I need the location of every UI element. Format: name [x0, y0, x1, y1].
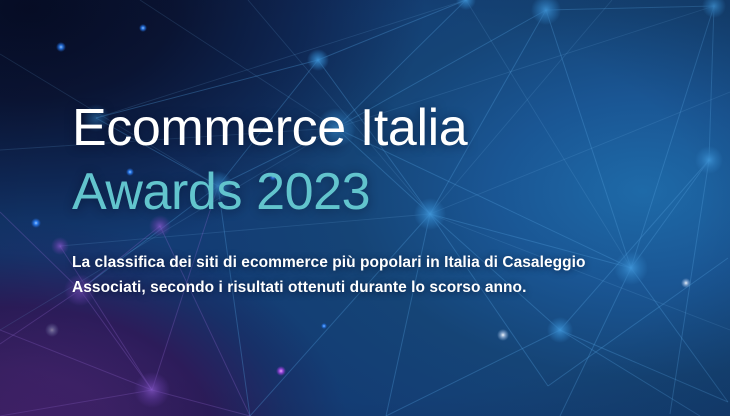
- page-title-line-1: Ecommerce Italia: [72, 96, 692, 160]
- hero-subtitle: La classifica dei siti di ecommerce più …: [72, 250, 657, 300]
- page-title-line-2: Awards 2023: [72, 160, 692, 224]
- hero-copy-block: Ecommerce Italia Awards 2023 La classifi…: [72, 96, 692, 300]
- hero-banner: Ecommerce Italia Awards 2023 La classifi…: [0, 0, 730, 416]
